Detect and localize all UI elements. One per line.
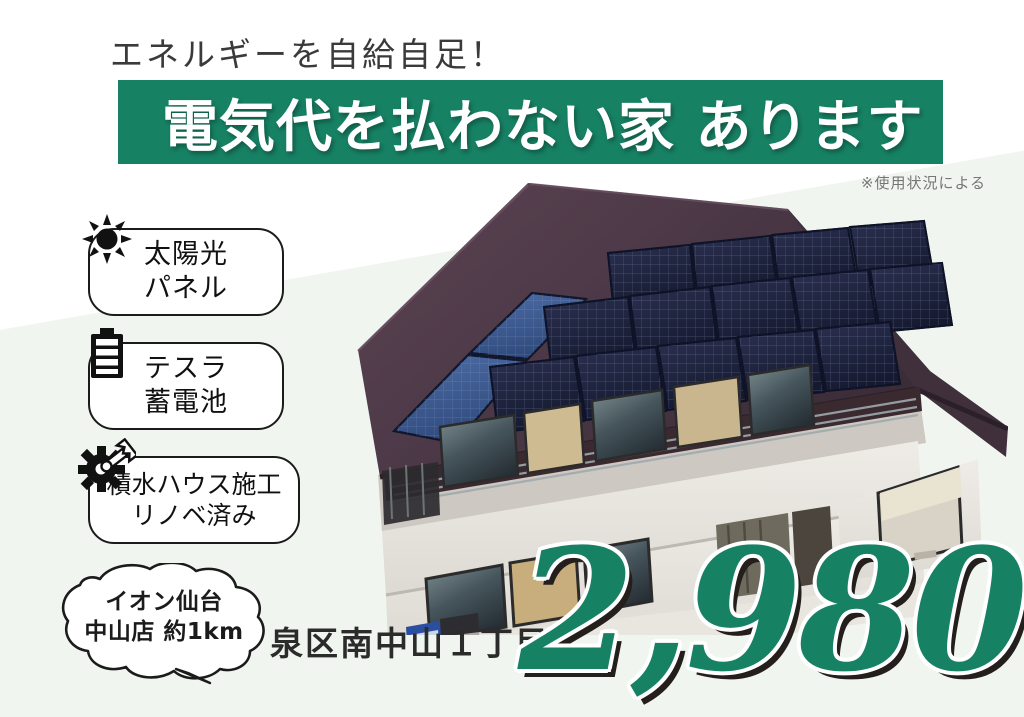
feature-line1: テスラ xyxy=(144,353,228,385)
feature-line2: 蓄電池 xyxy=(144,387,228,419)
feature-renovation: 積水ハウス施工 リノベ済み xyxy=(88,456,300,544)
headline-text: 電気代を払わない家 あります xyxy=(118,82,924,163)
kicker-text: エネルギーを自給自足！ xyxy=(110,28,506,76)
price-amount: 2,980 xyxy=(518,533,1024,688)
property-address: 泉区南中山１丁目 xyxy=(270,617,550,665)
price-block: 2,980 (税込) 円 xyxy=(518,533,1024,688)
landmark-speech-bubble: イオン仙台 中山店 約1km xyxy=(58,563,270,689)
bubble-text: イオン仙台 中山店 約1km xyxy=(58,587,270,648)
gear-wrench-icon xyxy=(74,438,136,500)
feature-line2: パネル xyxy=(144,273,228,305)
sun-icon xyxy=(80,212,134,266)
battery-icon xyxy=(80,326,134,380)
feature-line2: リノベ済み xyxy=(131,501,256,531)
advertisement-poster: エネルギーを自給自足！ 電気代を払わない家 あります ※使用状況による 太陽光 … xyxy=(0,0,1024,717)
feature-tesla-battery: テスラ 蓄電池 xyxy=(88,342,284,430)
feature-solar-panel: 太陽光 パネル xyxy=(88,228,284,316)
headline-banner: 電気代を払わない家 あります xyxy=(118,80,943,164)
bubble-line1: イオン仙台 xyxy=(58,587,270,617)
feature-line1: 太陽光 xyxy=(144,239,228,271)
bubble-line2: 中山店 約1km xyxy=(58,617,270,647)
disclaimer-text: ※使用状況による xyxy=(861,172,986,193)
